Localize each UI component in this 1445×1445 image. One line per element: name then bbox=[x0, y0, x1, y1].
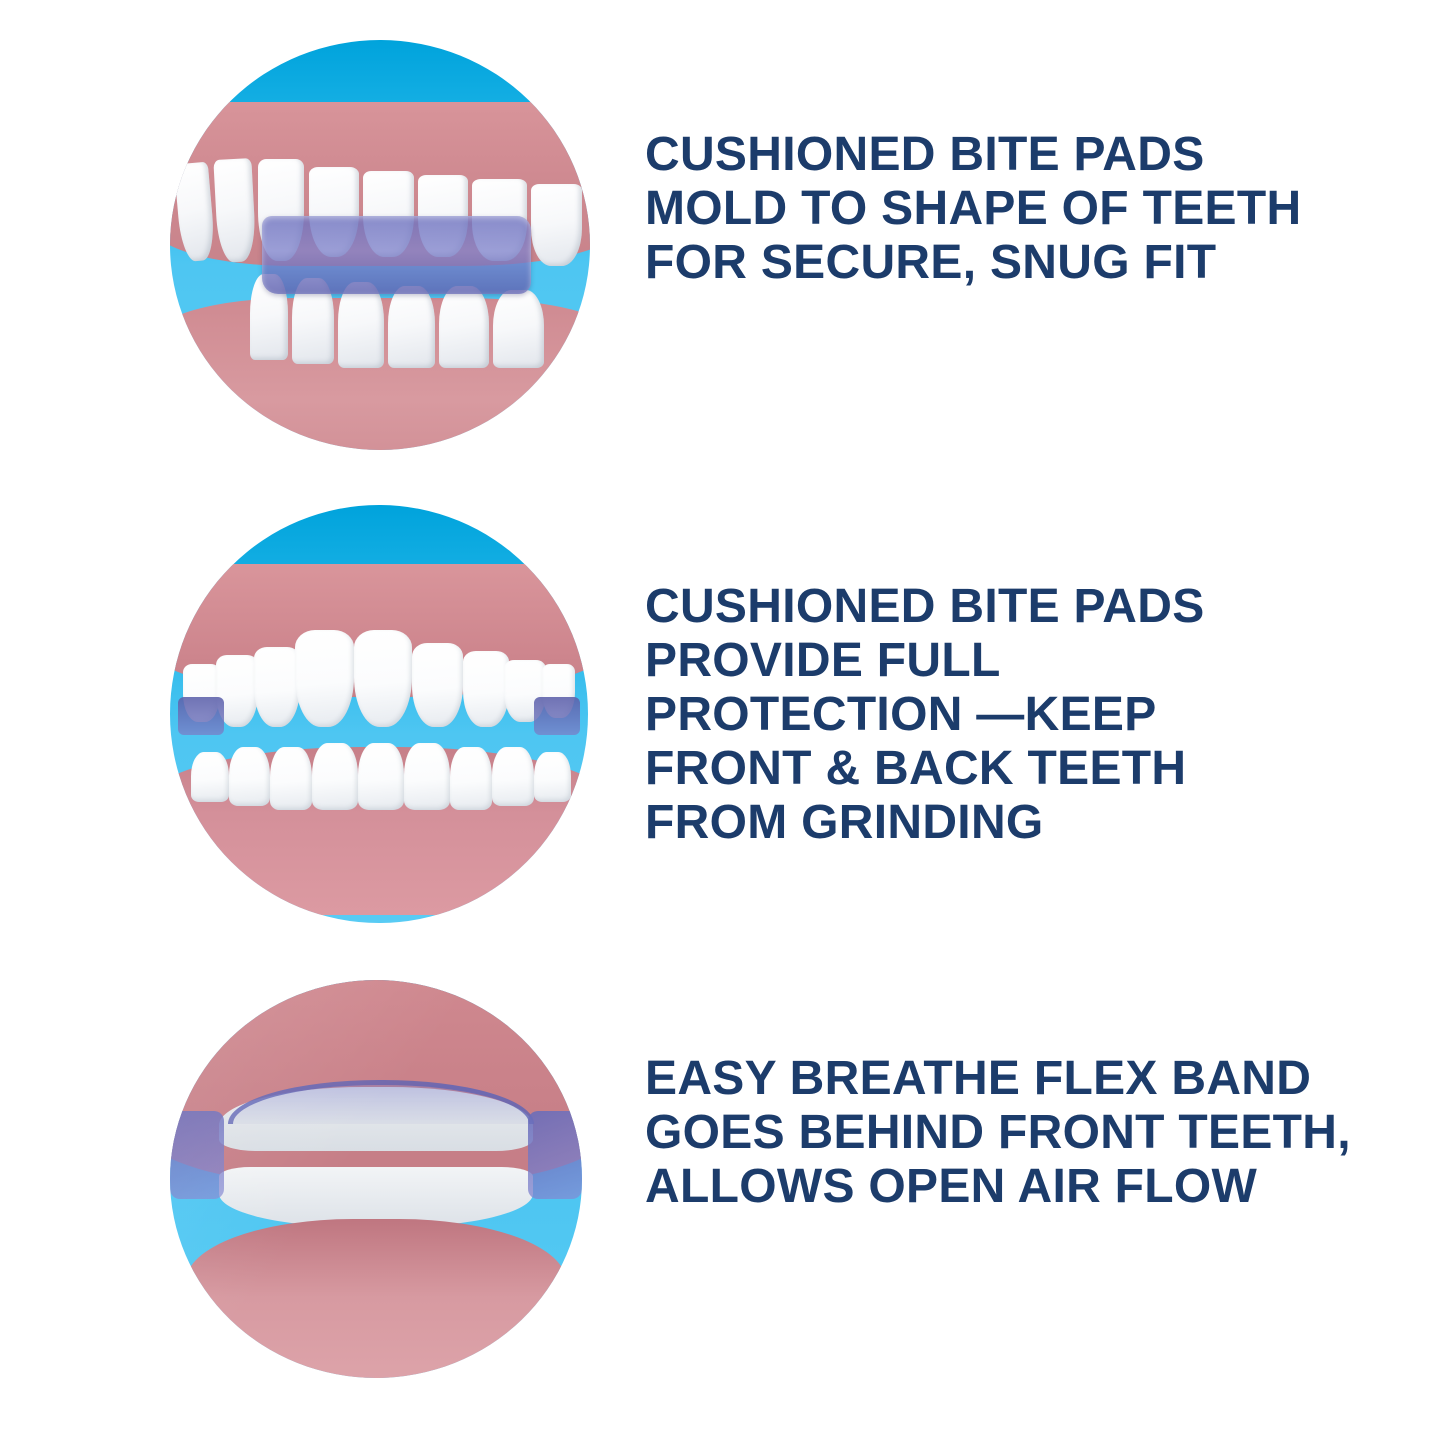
lower-tooth bbox=[450, 747, 492, 810]
lower-tooth bbox=[388, 286, 434, 368]
circle-background-1 bbox=[170, 40, 590, 450]
lower-tooth bbox=[358, 743, 404, 810]
infographic-page: CUSHIONED BITE PADS MOLD TO SHAPE OF TEE… bbox=[0, 0, 1445, 1445]
circle-background-2 bbox=[170, 505, 588, 923]
feature-row-2: CUSHIONED BITE PADS PROVIDE FULL PROTECT… bbox=[0, 505, 1445, 923]
lower-tooth bbox=[270, 747, 312, 810]
teeth-side-view-guard-illustration bbox=[170, 40, 590, 450]
upper-tooth bbox=[412, 643, 462, 727]
highlight-overlay bbox=[170, 980, 582, 1378]
lower-tooth bbox=[534, 752, 572, 802]
upper-tooth bbox=[354, 630, 413, 726]
feature-row-3: EASY BREATHE FLEX BAND GOES BEHIND FRONT… bbox=[0, 980, 1445, 1380]
lower-tooth bbox=[338, 282, 384, 368]
circle-background-3 bbox=[170, 980, 582, 1378]
lower-tooth bbox=[404, 743, 450, 810]
teeth-inside-view-flex-band-illustration bbox=[170, 980, 582, 1378]
lower-tooth bbox=[191, 752, 229, 802]
lower-tooth bbox=[492, 747, 534, 806]
feature-row-1: CUSHIONED BITE PADS MOLD TO SHAPE OF TEE… bbox=[0, 40, 1445, 450]
lower-tooth bbox=[229, 747, 271, 806]
lower-tooth bbox=[439, 286, 489, 368]
lower-tooth bbox=[493, 290, 543, 368]
feature-caption-1: CUSHIONED BITE PADS MOLD TO SHAPE OF TEE… bbox=[645, 128, 1335, 290]
teeth-front-view-bite-pads-illustration bbox=[170, 505, 588, 923]
bite-pad-right bbox=[534, 697, 580, 735]
lower-tooth bbox=[312, 743, 358, 810]
feature-caption-2: CUSHIONED BITE PADS PROVIDE FULL PROTECT… bbox=[645, 580, 1315, 850]
feature-caption-3: EASY BREATHE FLEX BAND GOES BEHIND FRONT… bbox=[645, 1052, 1365, 1214]
upper-tooth bbox=[463, 651, 509, 726]
upper-tooth bbox=[295, 630, 354, 726]
bite-pad-left bbox=[178, 697, 224, 735]
upper-tooth bbox=[254, 647, 300, 726]
upper-tooth bbox=[531, 184, 581, 266]
mouthguard-bite-pad bbox=[262, 216, 531, 294]
